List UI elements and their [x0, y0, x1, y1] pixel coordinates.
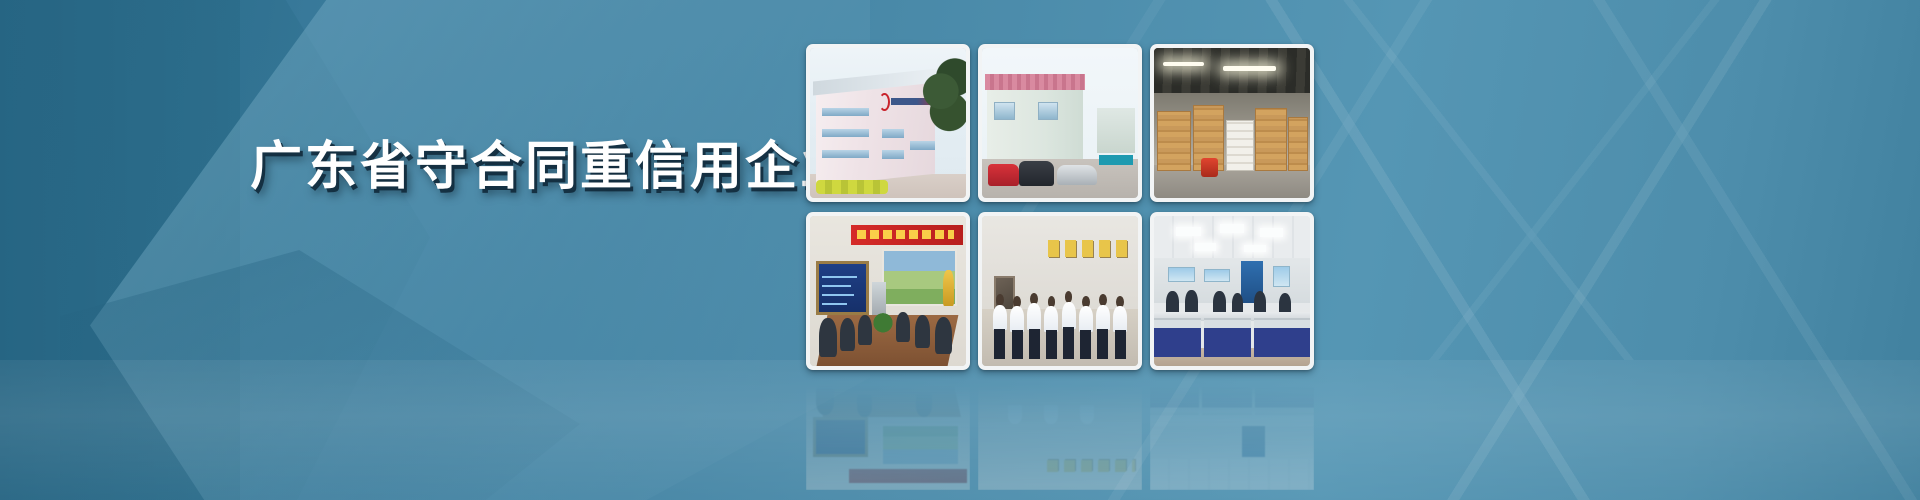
photo-factory-exterior[interactable] — [806, 44, 970, 202]
photo-gallery — [806, 44, 1322, 374]
company-banner: 广东省守合同重信用企业 — [0, 0, 1920, 500]
photo-warehouse[interactable] — [1150, 44, 1314, 202]
photo-office[interactable] — [1150, 212, 1314, 370]
photo-team[interactable] — [978, 212, 1142, 370]
photo-meeting-room[interactable] — [806, 212, 970, 370]
photo-plant-and-cars[interactable] — [978, 44, 1142, 202]
banner-headline: 广东省守合同重信用企业 — [250, 124, 855, 199]
background-crosshatch-top — [1340, 0, 1920, 360]
